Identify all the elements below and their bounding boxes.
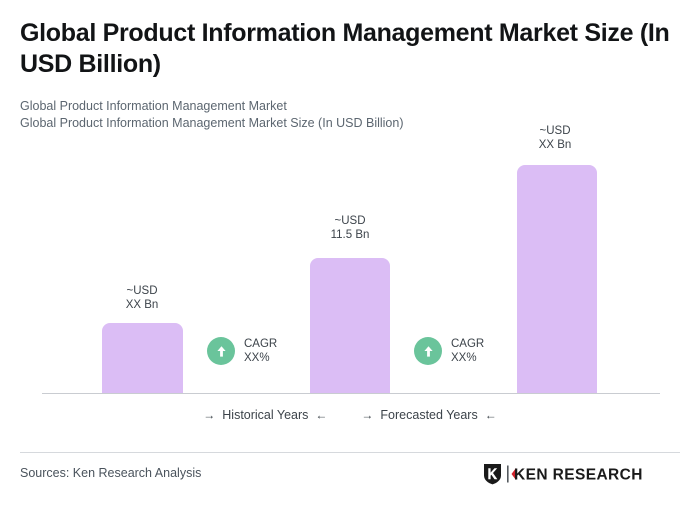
legend-label-forecasted: Forecasted Years <box>380 408 477 422</box>
bar-value-label-2-line2: 11.5 Bn <box>295 228 405 242</box>
cagr-annotation-1: CAGR XX% <box>207 337 277 365</box>
cagr-text-2: CAGR XX% <box>451 337 484 365</box>
arrow-right-icon: → <box>203 408 215 422</box>
cagr-text-1: CAGR XX% <box>244 337 277 365</box>
cagr-label-2: CAGR <box>451 337 484 351</box>
chart-plot-area: ~USD XX Bn ~USD 11.5 Bn ~USD XX Bn CAGR … <box>0 0 700 440</box>
bar-value-label-2-line1: ~USD <box>295 214 405 228</box>
svg-text:KEN RESEARCH: KEN RESEARCH <box>514 467 643 484</box>
cagr-value-1: XX% <box>244 351 277 365</box>
period-legend: → Historical Years ← → Forecasted Years … <box>0 408 700 422</box>
bar-value-label-1-line1: ~USD <box>87 284 197 298</box>
ken-research-logo: KEN RESEARCH <box>483 463 677 490</box>
bar-value-label-2: ~USD 11.5 Bn <box>295 214 405 242</box>
legend-item-historical: → Historical Years ← <box>203 408 327 422</box>
arrow-right-icon: → <box>361 408 373 422</box>
arrow-left-icon: ← <box>315 408 327 422</box>
bar-base-year[interactable] <box>310 258 390 393</box>
chart-page: Global Product Information Management Ma… <box>0 0 700 520</box>
ken-research-shield-icon <box>483 463 502 490</box>
arrow-left-icon: ← <box>485 408 497 422</box>
bar-value-label-3-line2: XX Bn <box>500 138 610 152</box>
bar-forecast-year[interactable] <box>517 165 597 393</box>
bar-value-label-1-line2: XX Bn <box>87 298 197 312</box>
bar-value-label-3-line1: ~USD <box>500 124 610 138</box>
footer-divider <box>20 452 680 453</box>
ken-research-wordmark: KEN RESEARCH <box>507 464 677 489</box>
cagr-annotation-2: CAGR XX% <box>414 337 484 365</box>
x-axis-line <box>42 393 660 394</box>
bar-value-label-1: ~USD XX Bn <box>87 284 197 312</box>
legend-label-historical: Historical Years <box>222 408 308 422</box>
cagr-value-2: XX% <box>451 351 484 365</box>
bar-value-label-3: ~USD XX Bn <box>500 124 610 152</box>
bar-historical-year[interactable] <box>102 323 183 393</box>
arrow-up-icon <box>414 337 442 365</box>
cagr-label-1: CAGR <box>244 337 277 351</box>
sources-text: Sources: Ken Research Analysis <box>20 466 201 480</box>
arrow-up-icon <box>207 337 235 365</box>
legend-item-forecasted: → Forecasted Years ← <box>361 408 496 422</box>
